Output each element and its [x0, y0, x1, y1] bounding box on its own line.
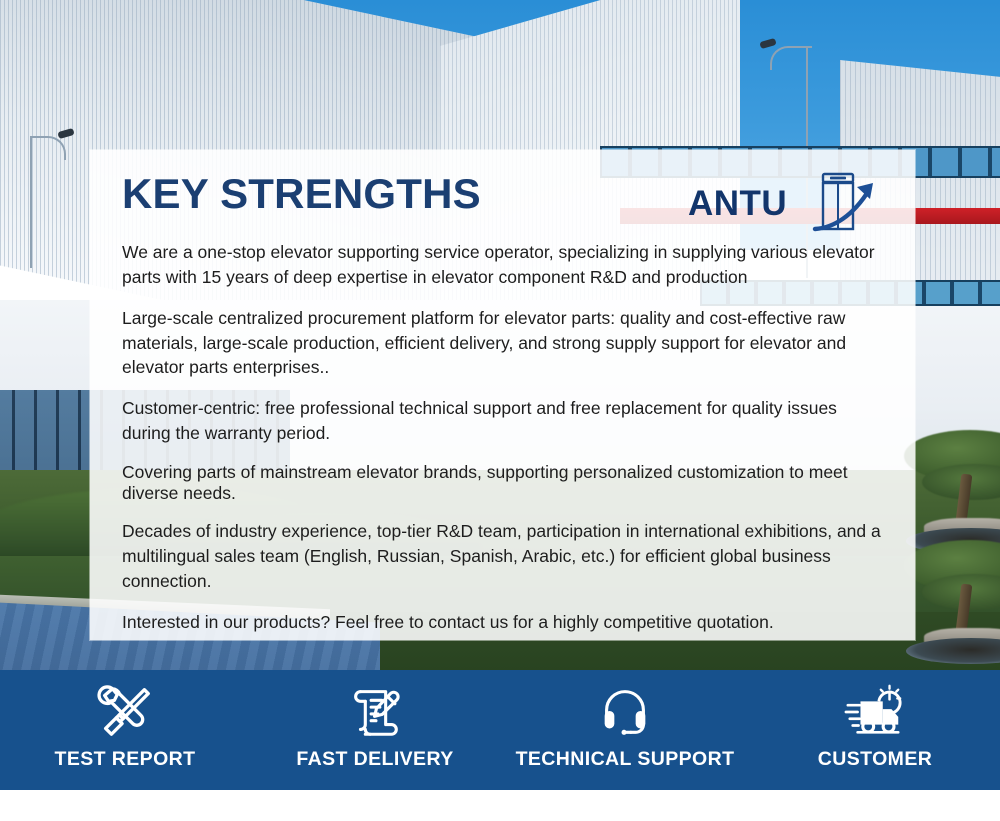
bonsai-tree-upper: [900, 430, 1000, 550]
feature-test-report[interactable]: TEST REPORT: [0, 670, 250, 790]
feature-customer[interactable]: CUSTOMER: [750, 670, 1000, 790]
paragraph-customer-centric: Customer-centric: free professional tech…: [122, 396, 889, 446]
logo-wordmark: ANTU: [688, 186, 787, 221]
paragraph-experience: Decades of industry experience, top-tier…: [122, 519, 889, 594]
paragraph-call-to-action: Interested in our products? Feel free to…: [122, 610, 889, 635]
wrench-screwdriver-icon: [94, 680, 156, 742]
headset-icon: [594, 680, 656, 742]
feature-bar: TEST REPORT: [0, 670, 1000, 790]
bonsai-tree-lower: [900, 540, 1000, 660]
antu-logo: ANTU: [688, 176, 893, 238]
feature-label: FAST DELIVERY: [296, 748, 453, 771]
street-lamp-left: [30, 138, 32, 268]
feature-technical-support[interactable]: TECHNICAL SUPPORT: [500, 670, 750, 790]
content-panel: KEY STRENGTHS ANTU We: [90, 150, 915, 640]
feature-label: TEST REPORT: [55, 748, 196, 771]
paragraph-brand-coverage: Covering parts of mainstream elevator br…: [122, 462, 889, 503]
fast-truck-clock-icon: [844, 680, 906, 742]
scroll-pencil-icon: [344, 680, 406, 742]
title-row: KEY STRENGTHS ANTU: [122, 172, 889, 234]
elevator-growth-arrow-icon: [807, 172, 893, 234]
bottom-white-margin: [0, 790, 1000, 821]
key-strengths-poster: KEY STRENGTHS ANTU We: [0, 0, 1000, 821]
paragraph-intro: We are a one-stop elevator supporting se…: [122, 240, 889, 290]
body-copy: We are a one-stop elevator supporting se…: [122, 240, 889, 635]
feature-label: TECHNICAL SUPPORT: [516, 748, 735, 771]
paragraph-procurement: Large-scale centralized procurement plat…: [122, 306, 889, 381]
feature-fast-delivery[interactable]: FAST DELIVERY: [250, 670, 500, 790]
feature-label: CUSTOMER: [818, 748, 932, 771]
